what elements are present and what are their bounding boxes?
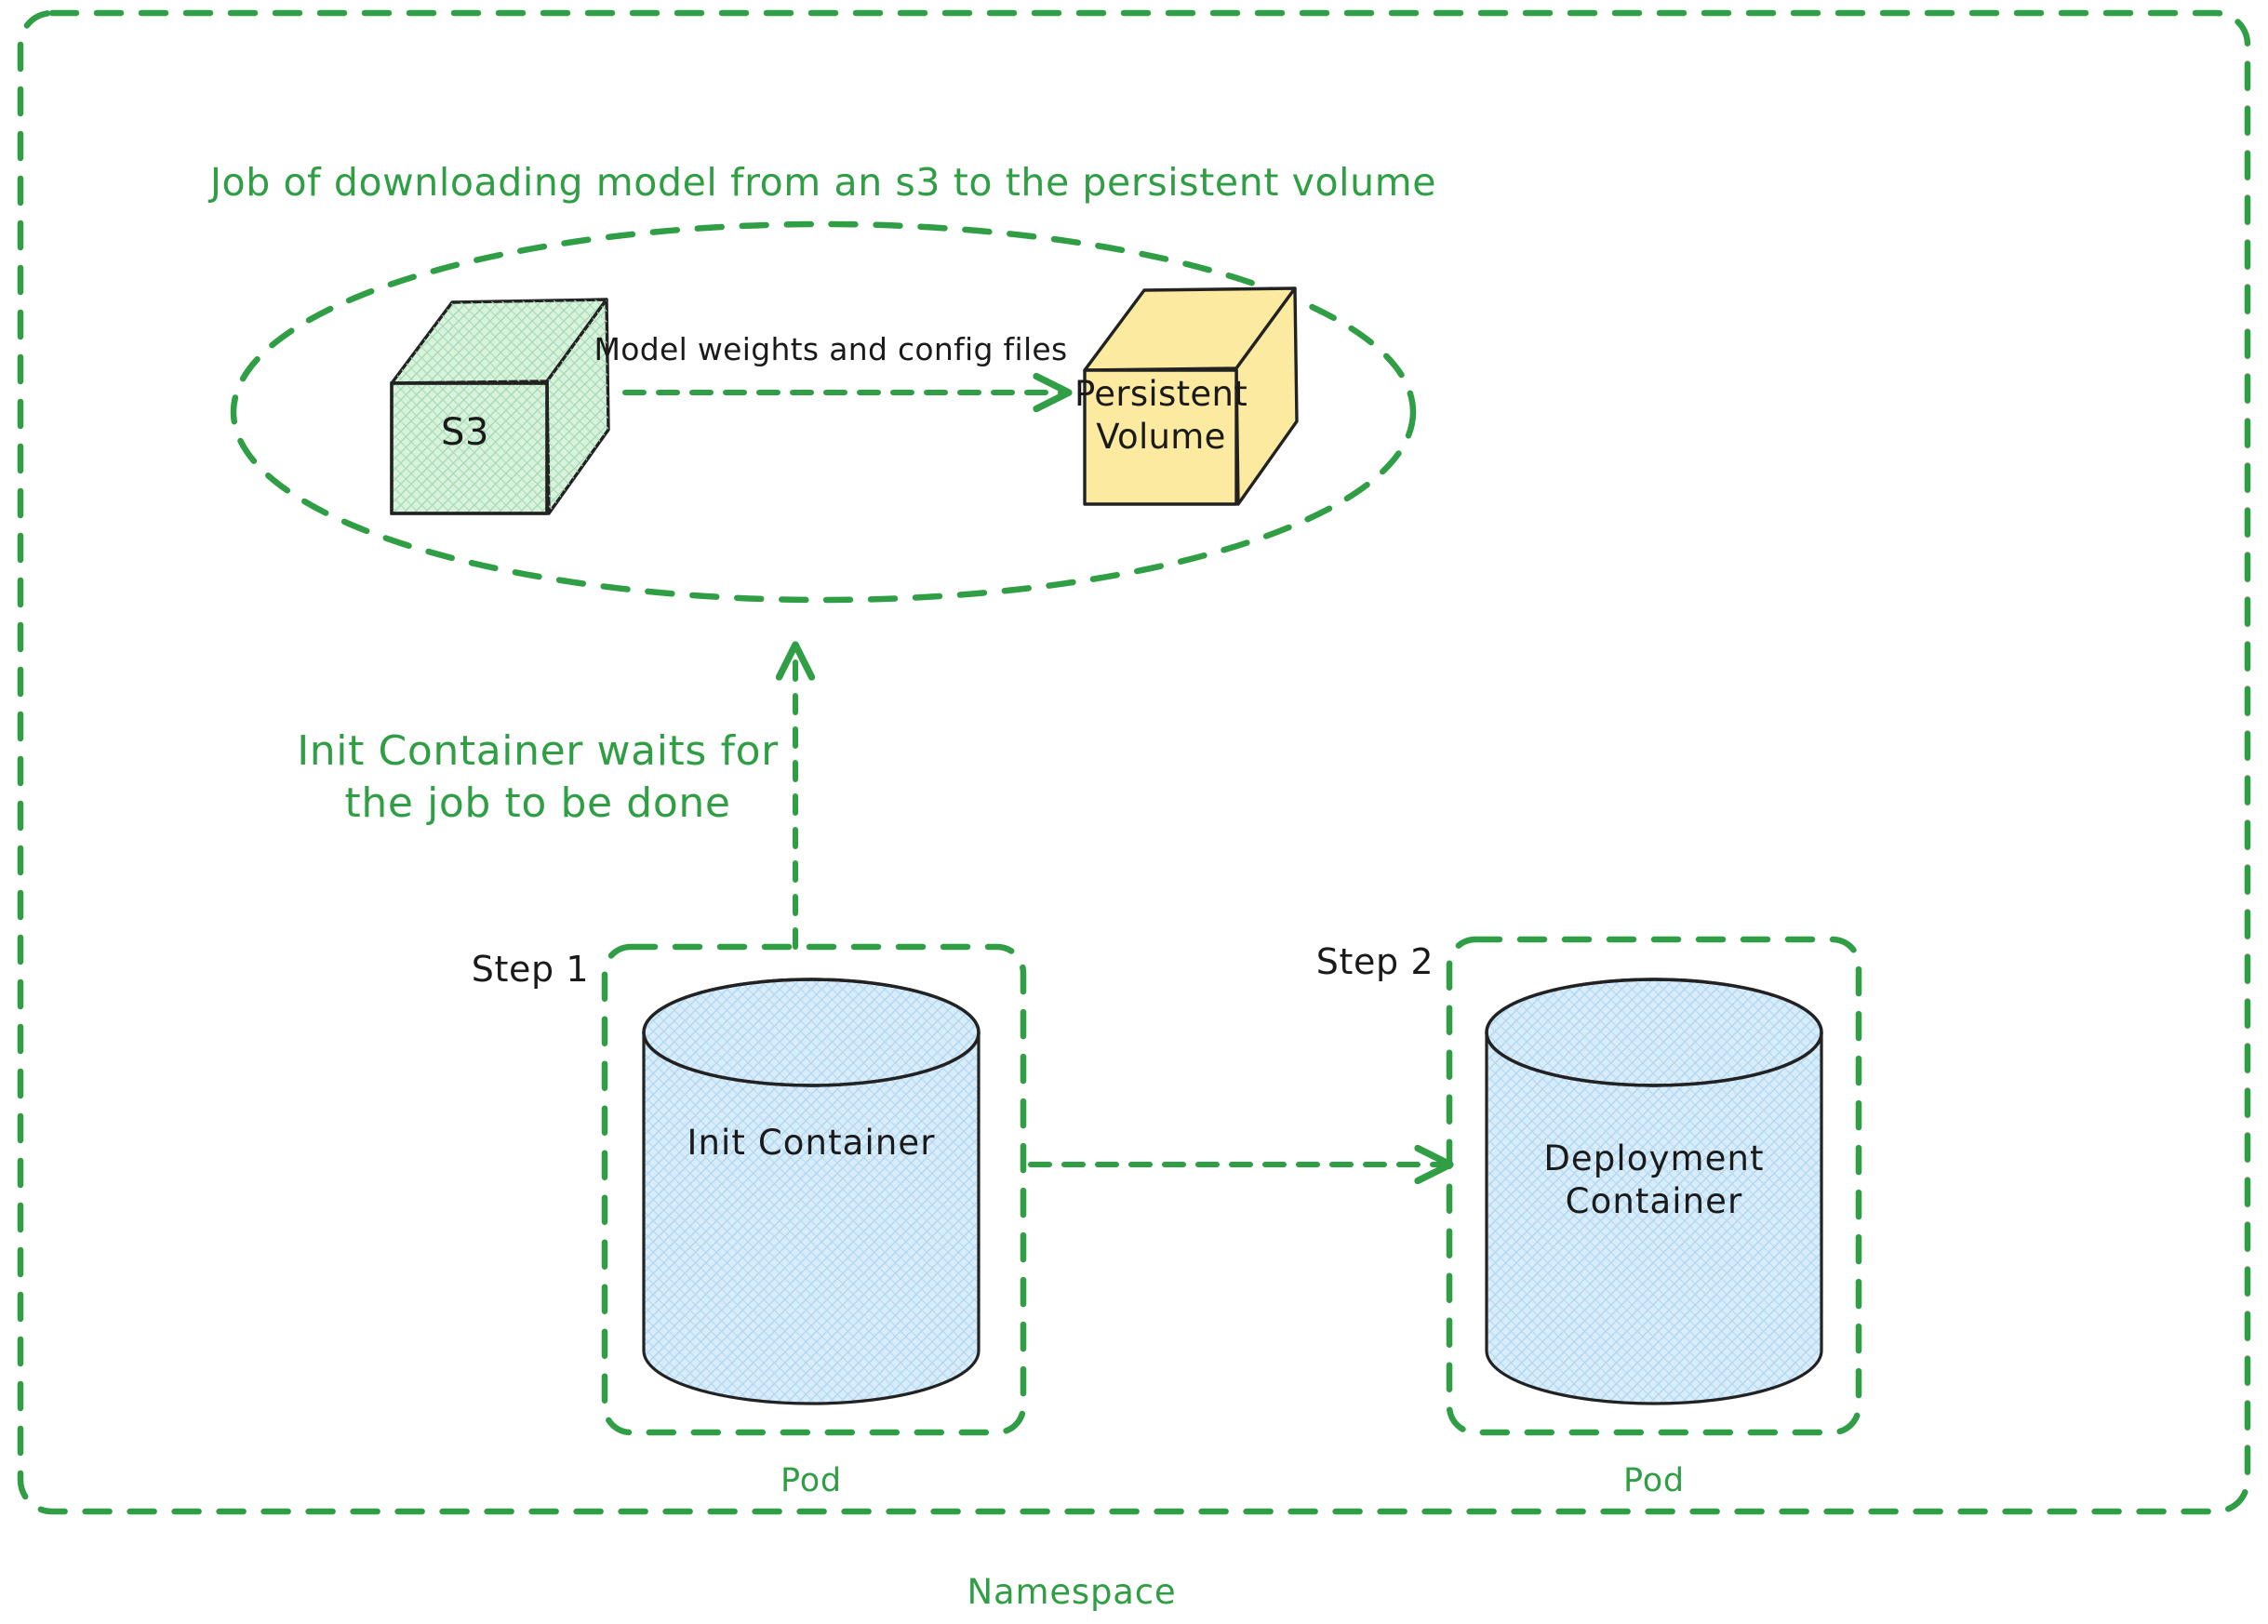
persistent-volume-label-line2: Volume [1096,415,1225,459]
deployment-container-label-line1: Deployment [1543,1137,1764,1180]
pod-1-label: Pod [780,1460,842,1502]
pod-1-boundary [605,947,1023,1432]
step-1-label: Step 1 [472,947,589,992]
pod-2-label: Pod [1623,1460,1685,1502]
edge-label-model-weights: Model weights and config files [594,330,1067,369]
job-group-title: Job of downloading model from an s3 to t… [210,158,1436,206]
deployment-container-label-line2: Container [1566,1179,1743,1223]
init-wait-note-line2: the job to be done [344,778,730,830]
step-2-label: Step 2 [1316,939,1434,985]
namespace-label: Namespace [967,1570,1177,1614]
diagram-canvas: Job of downloading model from an s3 to t… [0,0,2268,1624]
init-container-label: Init Container [687,1121,935,1165]
init-container-cylinder-shape [644,979,979,1404]
s3-cube-shape [392,300,608,513]
diagram-shapes-layer [0,0,2268,1624]
persistent-volume-label-line1: Persistent [1074,372,1247,416]
s3-cube-label: S3 [441,409,489,457]
init-wait-note-line1: Init Container waits for [297,725,779,778]
